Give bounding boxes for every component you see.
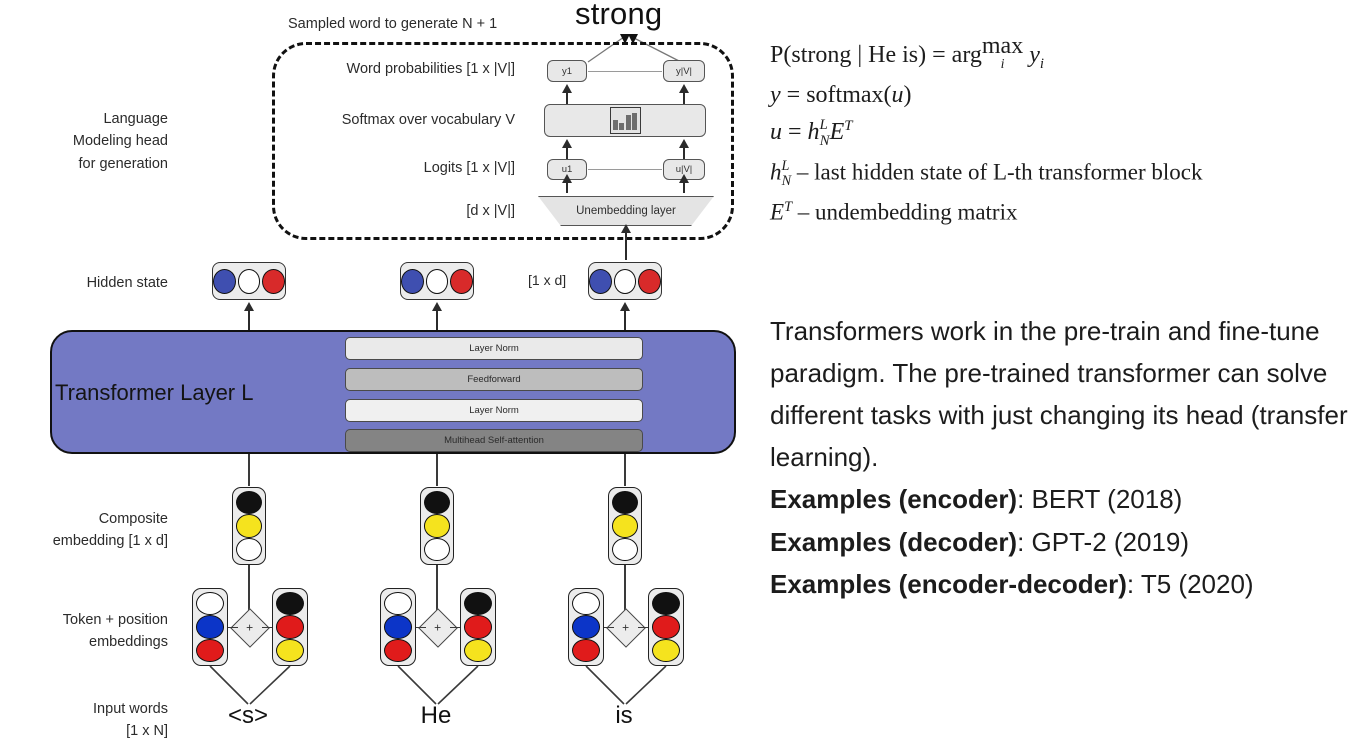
hidden-state-1 <box>212 262 286 300</box>
example-encoder-decoder: Examples (encoder-decoder): T5 (2020) <box>770 563 1350 605</box>
token-embedding-2 <box>380 588 416 666</box>
position-dot-red <box>276 615 304 638</box>
layer-to-hidden3-arrow <box>624 310 626 330</box>
token-dot-white <box>196 592 224 615</box>
word-fanout-2-icon <box>368 664 508 706</box>
composite-embedding-2 <box>420 487 454 565</box>
composite-dot-black <box>612 491 638 514</box>
u-connector-line <box>588 169 662 170</box>
plus-position1-link <box>262 627 272 628</box>
position-embedding-2 <box>460 588 496 666</box>
sublock-layer-norm-bottom: Layer Norm <box>345 399 643 422</box>
position-dot-yellow <box>652 639 680 662</box>
sublock-layer-norm-top: Layer Norm <box>345 337 643 360</box>
composite-dot-black <box>424 491 450 514</box>
y1-box: y1 <box>547 60 587 82</box>
token-dot-red <box>384 639 412 662</box>
token-dot-white <box>384 592 412 615</box>
composite1-to-layer-line <box>248 454 250 486</box>
input-word-1: <s> <box>198 702 298 730</box>
equations-block: P(strong | He is) = argmaxi yi y = softm… <box>770 34 1350 235</box>
token-dot-red <box>572 639 600 662</box>
position-dot-red <box>652 615 680 638</box>
composite-dot-black <box>236 491 262 514</box>
hidden-dot-white <box>426 269 449 294</box>
plus3-to-composite-line <box>624 565 626 613</box>
input-word-3: is <box>574 702 674 730</box>
example-encoder-decoder-bold: Examples (encoder-decoder) <box>770 569 1127 599</box>
transformer-layer-title: Transformer Layer L <box>55 380 253 406</box>
token-dot-white <box>572 592 600 615</box>
position-dot-yellow <box>464 639 492 662</box>
example-decoder: Examples (decoder): GPT-2 (2019) <box>770 521 1350 563</box>
plus-position3-link <box>638 627 648 628</box>
position-dot-red <box>464 615 492 638</box>
example-decoder-bold: Examples (decoder) <box>770 527 1017 557</box>
hidden-dot-red <box>450 269 473 294</box>
word-probabilities-label: Word probabilities [1 x |V|] <box>215 61 515 77</box>
unembedding-layer-block: Unembedding layer <box>538 196 714 226</box>
input-word-2: He <box>386 702 486 730</box>
y-connector-line <box>588 71 662 72</box>
position-dot-black <box>464 592 492 615</box>
equation-logits: u = hLNET <box>770 118 1350 150</box>
example-encoder: Examples (encoder): BERT (2018) <box>770 478 1350 520</box>
token-dot-blue <box>196 615 224 638</box>
sublock-feedforward: Feedforward <box>345 368 643 391</box>
example-encoder-bold: Examples (encoder) <box>770 484 1017 514</box>
equation-softmax: y = softmax(u) <box>770 82 1350 109</box>
position-dot-black <box>276 592 304 615</box>
composite-dot-yellow <box>424 514 450 537</box>
composite-embedding-1 <box>232 487 266 565</box>
equation-unembedding-desc: ET – undembedding matrix <box>770 199 1350 226</box>
composite-dot-white <box>612 538 638 561</box>
logits-label: Logits [1 x |V|] <box>215 160 515 176</box>
plus-icon: + <box>622 621 629 635</box>
plus-icon: + <box>246 621 253 635</box>
token-position-embeddings-label: Token + position embeddings <box>10 609 168 654</box>
position-dot-yellow <box>276 639 304 662</box>
composite3-to-layer-line <box>624 454 626 486</box>
y-v-box: y|V| <box>663 60 705 82</box>
input-words-label: Input words [1 x N] <box>10 698 168 743</box>
hidden-dot-blue <box>213 269 236 294</box>
token3-plus-link <box>604 627 614 628</box>
softmax-block <box>544 104 706 137</box>
token-dot-blue <box>384 615 412 638</box>
example-encoder-decoder-rest: : T5 (2020) <box>1127 569 1254 599</box>
softmax-histogram-icon <box>610 107 641 134</box>
equation-argmax: P(strong | He is) = argmaxi yi <box>770 34 1350 73</box>
composite-dot-yellow <box>236 514 262 537</box>
token-dot-blue <box>572 615 600 638</box>
hidden-state-2 <box>400 262 474 300</box>
hidden-state-dim-label: [1 x d] <box>528 272 566 288</box>
unembedding-dim-label: [d x |V|] <box>215 203 515 219</box>
token-embedding-3 <box>568 588 604 666</box>
layer-to-hidden2-arrow <box>436 310 438 330</box>
unembed-to-uv-arrow <box>683 182 685 193</box>
softmax-label: Softmax over vocabulary V <box>215 112 515 128</box>
word-fanout-1-icon <box>180 664 320 706</box>
example-encoder-rest: : BERT (2018) <box>1017 484 1182 514</box>
hidden-dot-blue <box>589 269 612 294</box>
unembed-to-u1-arrow <box>566 182 568 193</box>
composite-embedding-label: Composite embedding [1 x d] <box>10 508 168 553</box>
plus1-to-composite-line <box>248 565 250 613</box>
composite2-to-layer-line <box>436 454 438 486</box>
sublock-multihead-self-attention: Multihead Self-attention <box>345 429 643 452</box>
hidden-state-3 <box>588 262 662 300</box>
position-embedding-3 <box>648 588 684 666</box>
example-decoder-rest: : GPT-2 (2019) <box>1017 527 1189 557</box>
token-dot-red <box>196 639 224 662</box>
language-modeling-head-label: Language Modeling head for generation <box>10 108 168 175</box>
position-embedding-1 <box>272 588 308 666</box>
composite-dot-white <box>424 538 450 561</box>
composite-dot-white <box>236 538 262 561</box>
plus2-to-composite-line <box>436 565 438 613</box>
layer-to-hidden1-arrow <box>248 310 250 330</box>
hidden-dot-red <box>262 269 285 294</box>
token1-plus-link <box>228 627 238 628</box>
token2-plus-link <box>416 627 426 628</box>
hidden-dot-blue <box>401 269 424 294</box>
hidden-dot-white <box>238 269 261 294</box>
prose-block: Transformers work in the pre-train and f… <box>770 310 1350 605</box>
unembedding-layer-label: Unembedding layer <box>538 196 714 226</box>
token-embedding-1 <box>192 588 228 666</box>
composite-dot-yellow <box>612 514 638 537</box>
composite-embedding-3 <box>608 487 642 565</box>
prose-paragraph: Transformers work in the pre-train and f… <box>770 310 1350 478</box>
plus-icon: + <box>434 621 441 635</box>
plus-position2-link <box>450 627 460 628</box>
position-dot-black <box>652 592 680 615</box>
hidden-dot-white <box>614 269 637 294</box>
hidden-state-label: Hidden state <box>10 272 168 294</box>
sampled-word-caption: Sampled word to generate N + 1 <box>288 16 518 32</box>
hidden3-to-unembed-arrow <box>625 232 627 260</box>
hidden-dot-red <box>638 269 661 294</box>
word-fanout-3-icon <box>556 664 696 706</box>
equation-hidden-state-desc: hLN – last hidden state of L-th transfor… <box>770 159 1350 190</box>
